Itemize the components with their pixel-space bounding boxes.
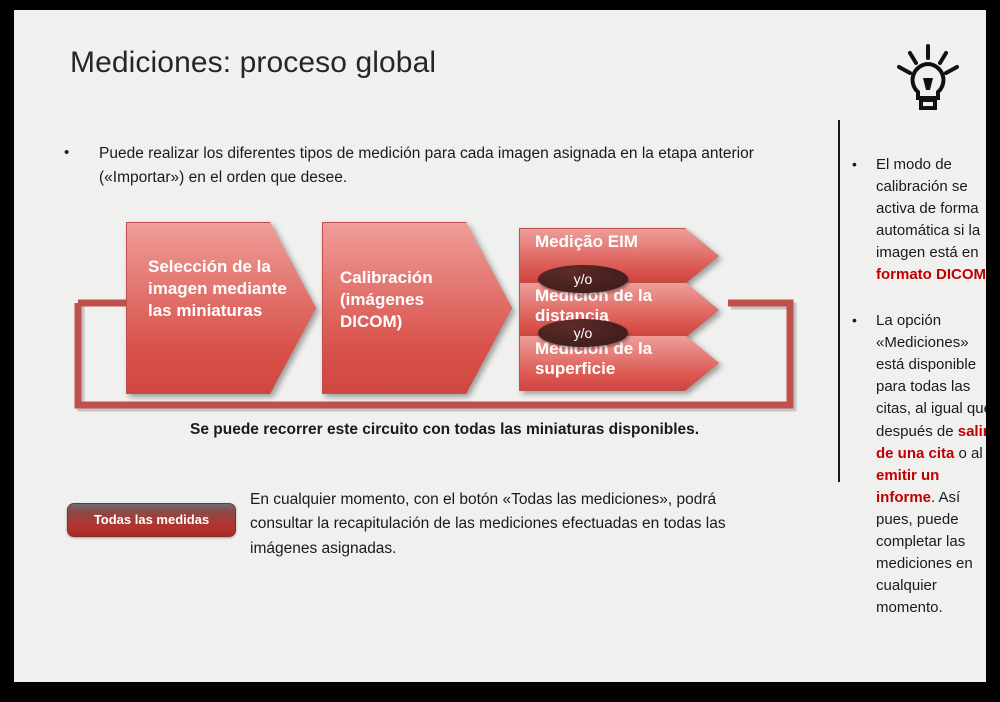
measurement-option-1-label: Medição EIM	[535, 232, 695, 252]
button-description: En cualquier momento, con el botón «Toda…	[250, 488, 770, 561]
bullet-marker: •	[852, 310, 857, 331]
page-title: Mediciones: proceso global	[70, 46, 436, 80]
sidebar-note-2-text: La opción «Mediciones» está disponible p…	[876, 310, 986, 619]
bullet-marker: •	[64, 142, 69, 165]
main-bullet-text: Puede realizar los diferentes tipos de m…	[99, 142, 784, 189]
measurement-option-3-label: Medicion de la superficie	[535, 339, 695, 380]
sidebar-note-2: • La opción «Mediciones» está disponible…	[852, 310, 986, 619]
flow-step-2-label: Calibración (imágenes DICOM)	[340, 267, 490, 332]
flow-step-1-label: Selección de la imagen mediante las mini…	[148, 256, 288, 321]
slide-canvas: Mediciones: proceso global • Puede reali…	[14, 10, 986, 682]
connector-badge-1: y/o	[538, 265, 628, 293]
all-measurements-button[interactable]: Todas las medidas	[67, 503, 236, 537]
sidebar-note-1: • El modo de calibración se activa de fo…	[852, 154, 986, 286]
bullet-marker: •	[852, 154, 857, 175]
flow-step-2[interactable]: Calibración (imágenes DICOM)	[322, 222, 512, 394]
sidebar-notes: • El modo de calibración se activa de fo…	[852, 154, 986, 643]
connector-badge-2: y/o	[538, 319, 628, 347]
main-bullet: • Puede realizar los diferentes tipos de…	[64, 142, 784, 189]
sidebar-note-1-text: El modo de calibración se activa de form…	[876, 154, 986, 286]
lightbulb-icon	[896, 44, 960, 110]
flow-step-1[interactable]: Selección de la imagen mediante las mini…	[126, 222, 316, 394]
measurement-option-3[interactable]: Medicion de la superficie	[519, 335, 719, 391]
circuit-note: Se puede recorrer este circuito con toda…	[190, 421, 699, 439]
sidebar-divider	[838, 120, 840, 482]
